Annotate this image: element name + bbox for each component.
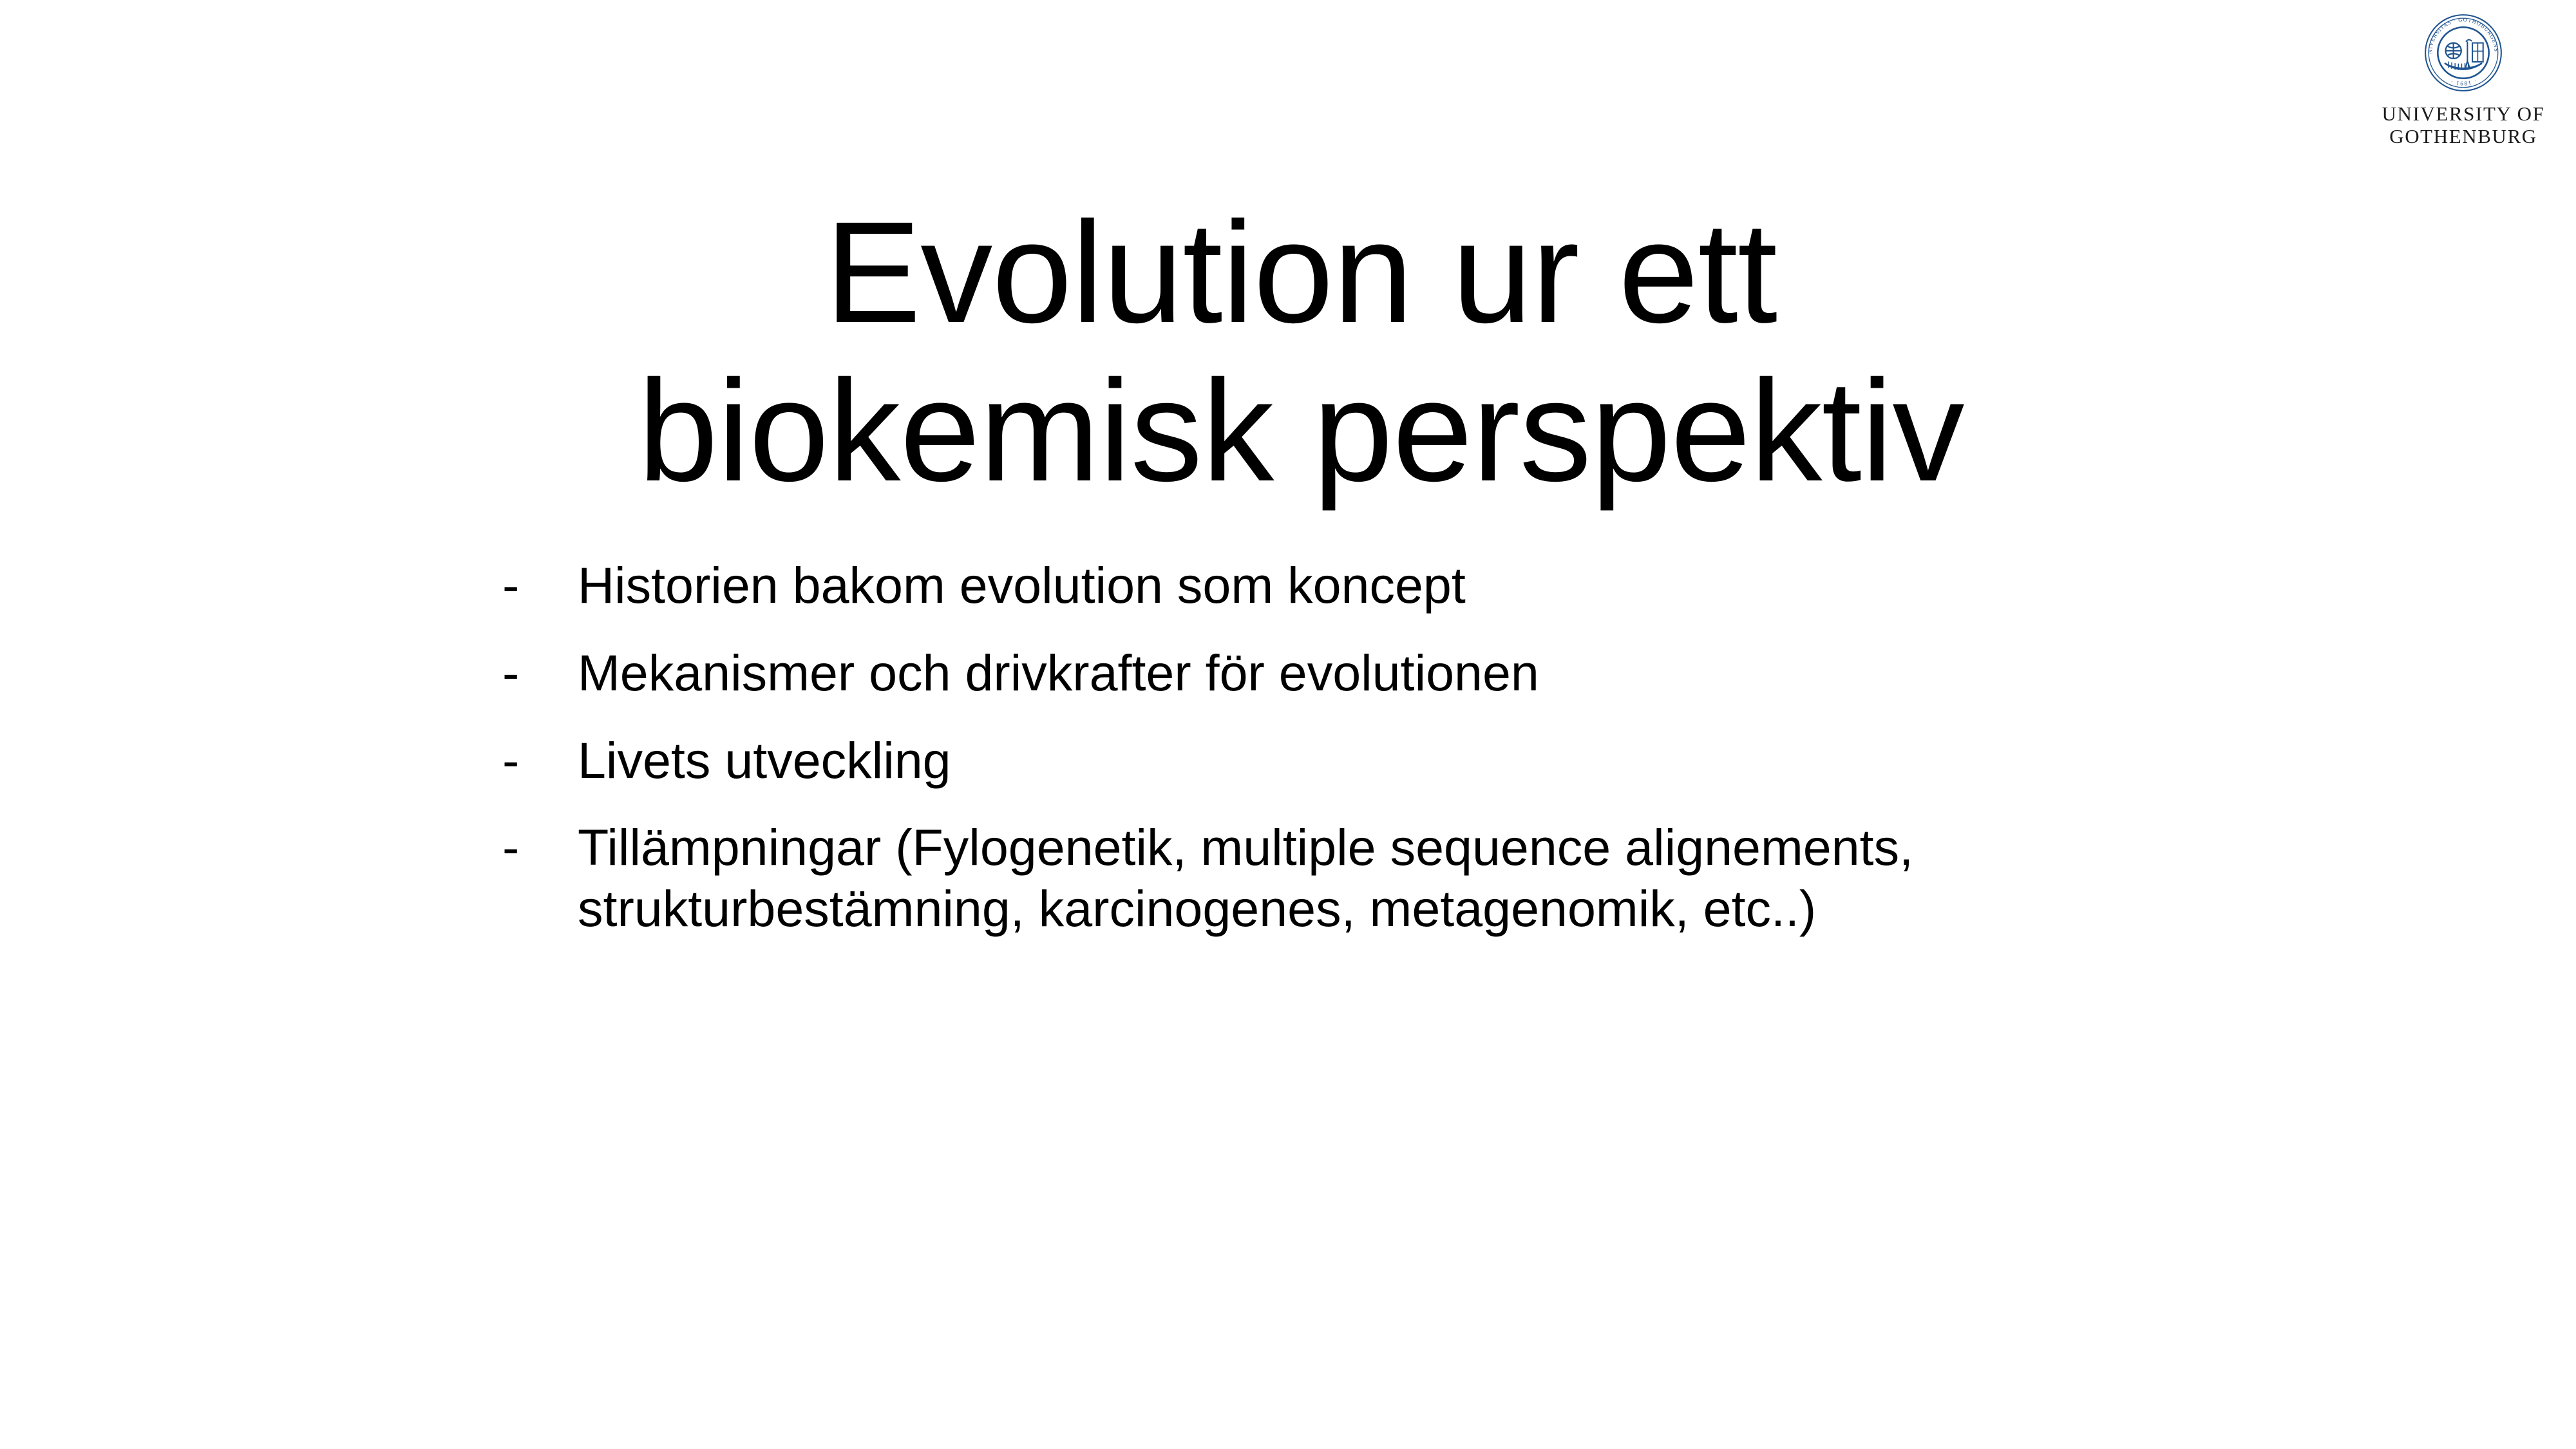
bullet-marker-icon: - — [502, 555, 578, 616]
university-wordmark: UNIVERSITY OF GOTHENBURG — [2382, 103, 2544, 147]
slide-bullet-list: - Historien bakom evolution som koncept … — [502, 555, 2151, 940]
list-item: - Historien bakom evolution som koncept — [502, 555, 2151, 616]
slide-title-line-1: Evolution ur ett — [193, 193, 2409, 352]
university-logo: UNIVERSITAS · GOTHOBURGENSIS · 1891 · — [2357, 12, 2570, 179]
list-item-label: Tillämpningar (Fylogenetik, multiple seq… — [578, 817, 2151, 940]
bullet-marker-icon: - — [502, 643, 578, 704]
list-item: - Livets utveckling — [502, 730, 2151, 791]
wordmark-line-1: UNIVERSITY OF — [2382, 103, 2544, 126]
bullet-marker-icon: - — [502, 730, 578, 791]
wordmark-line-2: GOTHENBURG — [2382, 126, 2544, 148]
bullet-marker-icon: - — [502, 817, 578, 878]
list-item: - Mekanismer och drivkrafter för evoluti… — [502, 643, 2151, 704]
list-item: - Tillämpningar (Fylogenetik, multiple s… — [502, 817, 2151, 940]
list-item-label: Mekanismer och drivkrafter för evolution… — [578, 643, 2151, 704]
list-item-label: Livets utveckling — [578, 730, 2151, 791]
slide-canvas: UNIVERSITAS · GOTHOBURGENSIS · 1891 · — [0, 0, 2576, 1449]
list-item-label: Historien bakom evolution som koncept — [578, 555, 2151, 616]
slide-title: Evolution ur ett biokemisk perspektiv — [193, 193, 2409, 511]
university-seal-icon: UNIVERSITAS · GOTHOBURGENSIS · 1891 · — [2422, 12, 2505, 94]
slide-title-line-2: biokemisk perspektiv — [193, 352, 2409, 510]
